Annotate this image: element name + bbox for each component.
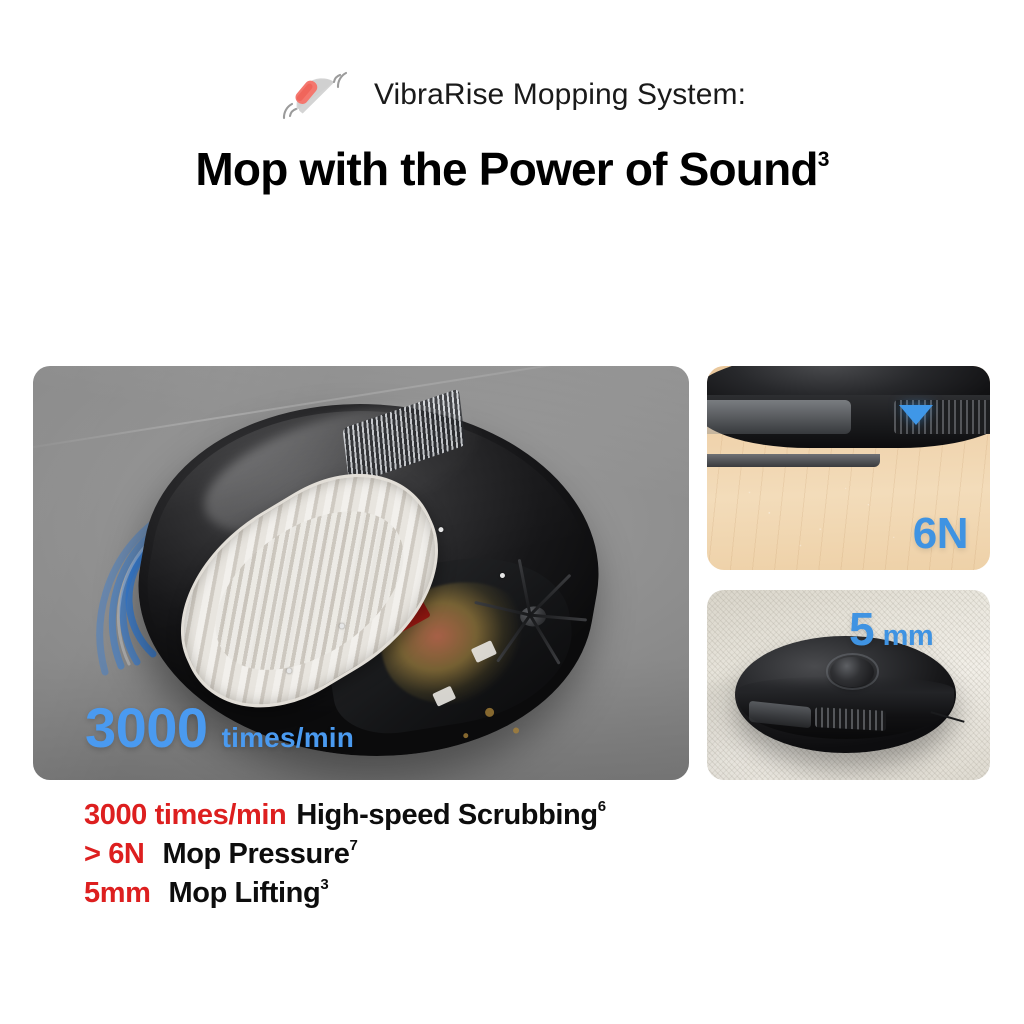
header-block: VibraRise Mopping System: Mop with the P… [0, 64, 1024, 193]
mop-lift-overlay-label: 5 mm [849, 606, 933, 652]
scrub-rate-value: 3000 [85, 700, 208, 756]
robot-dustbin-window [707, 400, 851, 434]
robot-exhaust-grille [815, 707, 886, 731]
vibrating-mop-closeup-photo: 3000 times/min [33, 366, 689, 780]
mop-lift-unit: mm [883, 622, 934, 651]
stain-droplet [485, 707, 494, 716]
spec-label-text: Mop Pressure [162, 838, 349, 870]
spec-value: 3000 times/min [84, 796, 286, 835]
product-feature-slide: VibraRise Mopping System: Mop with the P… [0, 0, 1024, 1024]
spec-label: Mop Pressure7 [162, 835, 357, 874]
spec-row-pressure: > 6N Mop Pressure7 [84, 835, 884, 874]
mop-pressure-on-wood-floor-photo: 6N [707, 366, 990, 570]
scrub-rate-overlay-label: 3000 times/min [85, 700, 354, 756]
spec-list: 3000 times/min High-speed Scrubbing6 > 6… [84, 796, 884, 913]
robot-vacuum-side-view [707, 366, 990, 464]
vibrarise-mop-icon [278, 65, 352, 125]
stain-droplet [513, 727, 519, 733]
spec-row-scrubbing: 3000 times/min High-speed Scrubbing6 [84, 796, 884, 835]
robot-vacuum-isometric-view [735, 636, 956, 754]
spec-superscript: 7 [349, 837, 357, 854]
headline-superscript: 3 [818, 148, 829, 171]
spec-value: > 6N [84, 835, 144, 874]
mop-pressure-overlay-label: 6N [913, 512, 968, 556]
spec-value: 5mm [84, 874, 151, 913]
spec-label-text: High-speed Scrubbing [296, 799, 597, 831]
robot-side-brush [468, 565, 591, 663]
downward-pressure-arrow-icon [899, 405, 933, 425]
spec-label: High-speed Scrubbing6 [296, 796, 605, 835]
spec-label-text: Mop Lifting [169, 877, 321, 909]
headline-text: Mop with the Power of Sound [195, 143, 817, 195]
robot-mop-module [707, 454, 880, 468]
mop-lifting-over-carpet-photo: 5 mm [707, 590, 990, 780]
scrub-rate-unit: times/min [222, 724, 355, 752]
spec-row-lifting: 5mm Mop Lifting3 [84, 874, 884, 913]
spec-label: Mop Lifting3 [169, 874, 329, 913]
page-title: Mop with the Power of Sound3 [0, 145, 1024, 193]
mop-lift-value: 5 [849, 606, 874, 652]
eyebrow-text: VibraRise Mopping System: [374, 80, 746, 110]
spec-superscript: 6 [598, 798, 606, 815]
eyebrow-row: VibraRise Mopping System: [0, 64, 1024, 126]
spec-superscript: 3 [320, 876, 328, 893]
